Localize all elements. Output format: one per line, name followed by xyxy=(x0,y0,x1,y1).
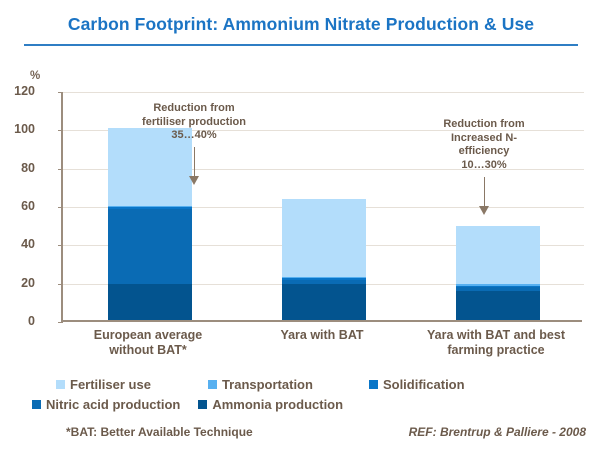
title-bar: Carbon Footprint: Ammonium Nitrate Produ… xyxy=(0,14,602,35)
footer: *BAT: Better Available Technique REF: Br… xyxy=(0,425,602,445)
reference-citation: REF: Brentrup & Palliere - 2008 xyxy=(409,425,586,439)
bar-segment-fertiliser-use[interactable] xyxy=(282,199,366,277)
category-label-0: European average without BAT* xyxy=(61,328,235,358)
legend-item-transportation[interactable]: Transportation xyxy=(208,374,313,394)
annotation-arrow-shaft-2 xyxy=(484,177,486,209)
ytick-mark-40 xyxy=(58,245,63,246)
annotation2-line-1: Reduction from xyxy=(389,118,579,132)
bar-yara-with-bat[interactable] xyxy=(282,199,366,320)
y-axis-unit-label: % xyxy=(30,70,40,82)
annotation-arrow-shaft-1 xyxy=(194,147,196,179)
annotation-line-1: Reduction from xyxy=(79,102,309,116)
annotation2-line-3: efficiency xyxy=(389,145,579,159)
ytick-label-100: 100 xyxy=(0,122,35,136)
ytick-label-20: 20 xyxy=(0,276,35,290)
ytick-mark-100 xyxy=(58,130,63,131)
legend-item-ammonia-production[interactable]: Ammonia production xyxy=(198,394,343,414)
legend-swatch-transportation xyxy=(208,380,217,389)
bar-european-average[interactable] xyxy=(108,128,192,320)
bar-segment-nitric-acid-production[interactable] xyxy=(108,209,192,284)
ytick-label-40: 40 xyxy=(0,237,35,251)
title-divider xyxy=(24,44,578,46)
gridline-120 xyxy=(63,92,584,93)
bar-segment-ammonia-production[interactable] xyxy=(282,284,366,320)
bar-yara-best-practice[interactable] xyxy=(456,226,540,320)
ytick-label-80: 80 xyxy=(0,161,35,175)
legend-label-nitric-acid-production: Nitric acid production xyxy=(46,397,180,412)
legend-swatch-nitric-acid-production xyxy=(32,400,41,409)
category-1-line-1: Yara with BAT xyxy=(235,328,409,343)
category-0-line-1: European average xyxy=(61,328,235,343)
ytick-label-120: 120 xyxy=(0,84,35,98)
ytick-label-60: 60 xyxy=(0,199,35,213)
legend-swatch-ammonia-production xyxy=(198,400,207,409)
legend-row-1: Fertiliser use Transportation Solidifica… xyxy=(0,374,602,394)
legend-label-transportation: Transportation xyxy=(222,377,313,392)
legend-item-fertiliser-use[interactable]: Fertiliser use xyxy=(56,374,151,394)
legend-label-ammonia-production: Ammonia production xyxy=(212,397,343,412)
annotation-n-efficiency-reduction: Reduction from Increased N- efficiency 1… xyxy=(389,118,579,172)
bar-segment-ammonia-production[interactable] xyxy=(108,284,192,320)
plot-region: 120 100 80 60 40 20 0 Reduction from fer… xyxy=(61,92,582,322)
legend-label-fertiliser-use: Fertiliser use xyxy=(70,377,151,392)
ytick-mark-120 xyxy=(58,92,63,93)
legend-item-nitric-acid-production[interactable]: Nitric acid production xyxy=(32,394,180,414)
annotation-line-2: fertiliser production xyxy=(79,116,309,130)
bar-segment-ammonia-production[interactable] xyxy=(456,291,540,320)
legend-item-solidification[interactable]: Solidification xyxy=(369,374,465,394)
ytick-label-0: 0 xyxy=(0,314,35,328)
legend-swatch-solidification xyxy=(369,380,378,389)
chart-area: % 120 100 80 60 40 20 0 Reduction from f… xyxy=(0,60,602,350)
annotation2-line-2: Increased N- xyxy=(389,132,579,146)
ytick-mark-60 xyxy=(58,207,63,208)
category-label-2: Yara with BAT and best farming practice xyxy=(409,328,583,358)
page-title: Carbon Footprint: Ammonium Nitrate Produ… xyxy=(68,14,534,35)
bar-segment-fertiliser-use[interactable] xyxy=(456,226,540,284)
ytick-mark-0 xyxy=(58,322,63,323)
category-label-1: Yara with BAT xyxy=(235,328,409,343)
footnote-bat: *BAT: Better Available Technique xyxy=(66,425,253,439)
annotation-fertiliser-reduction: Reduction from fertiliser production 35…… xyxy=(79,102,309,143)
ytick-mark-80 xyxy=(58,169,63,170)
annotation2-line-4: 10…30% xyxy=(389,159,579,173)
chart-legend: Fertiliser use Transportation Solidifica… xyxy=(0,374,602,414)
annotation-line-3: 35…40% xyxy=(79,129,309,143)
legend-row-2: Nitric acid production Ammonia productio… xyxy=(0,394,602,414)
annotation-arrow-head-1 xyxy=(189,176,199,185)
legend-label-solidification: Solidification xyxy=(383,377,465,392)
legend-swatch-fertiliser-use xyxy=(56,380,65,389)
annotation-arrow-head-2 xyxy=(479,206,489,215)
category-0-line-2: without BAT* xyxy=(61,343,235,358)
category-2-line-1: Yara with BAT and best xyxy=(409,328,583,343)
category-2-line-2: farming practice xyxy=(409,343,583,358)
ytick-mark-20 xyxy=(58,284,63,285)
